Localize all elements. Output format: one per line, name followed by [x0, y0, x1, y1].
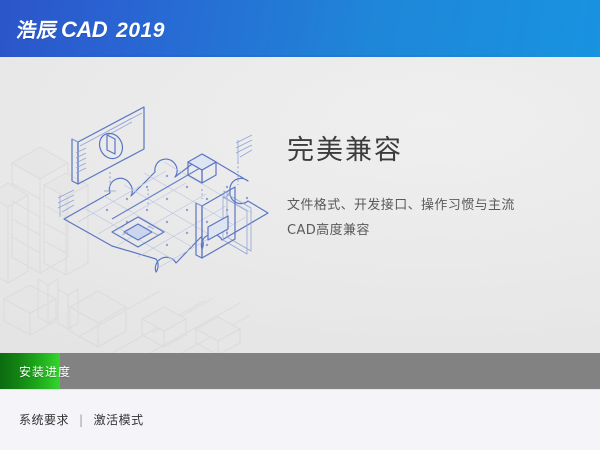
feature-description: 文件格式、开发接口、操作习惯与主流CAD高度兼容	[287, 193, 532, 243]
footer-separator: |	[79, 413, 84, 427]
link-system-requirements[interactable]: 系统要求	[19, 411, 69, 428]
link-activation-mode[interactable]: 激活模式	[94, 411, 144, 428]
document-stack-icon	[196, 187, 251, 258]
product-logo: 浩辰 CAD 2019	[17, 14, 165, 43]
feature-copy: 完美兼容 文件格式、开发接口、操作习惯与主流CAD高度兼容	[287, 135, 567, 243]
monitor-icon	[72, 107, 144, 191]
cube-icon	[188, 154, 216, 199]
logo-cad-text: CAD	[61, 17, 107, 43]
logo-year-text: 2019	[116, 19, 165, 43]
footer-bar: 系统要求 | 激活模式	[0, 389, 600, 450]
logo-brand-cn: 浩辰	[15, 14, 61, 43]
isometric-cad-puzzle-platform: .ln { fill:none; stroke:#5a76c4; stroke-…	[52, 99, 282, 309]
feature-stage: .ln { fill:none; stroke:#5a76c4; stroke-…	[0, 57, 600, 353]
title-bar: 浩辰 CAD 2019	[0, 0, 600, 57]
installer-window: 浩辰 CAD 2019	[0, 0, 600, 450]
install-progress-bar: 安装进度	[0, 353, 600, 389]
feature-title: 完美兼容	[287, 135, 567, 167]
footer-links: 系统要求 | 激活模式	[19, 411, 144, 428]
install-progress-label: 安装进度	[19, 353, 71, 389]
